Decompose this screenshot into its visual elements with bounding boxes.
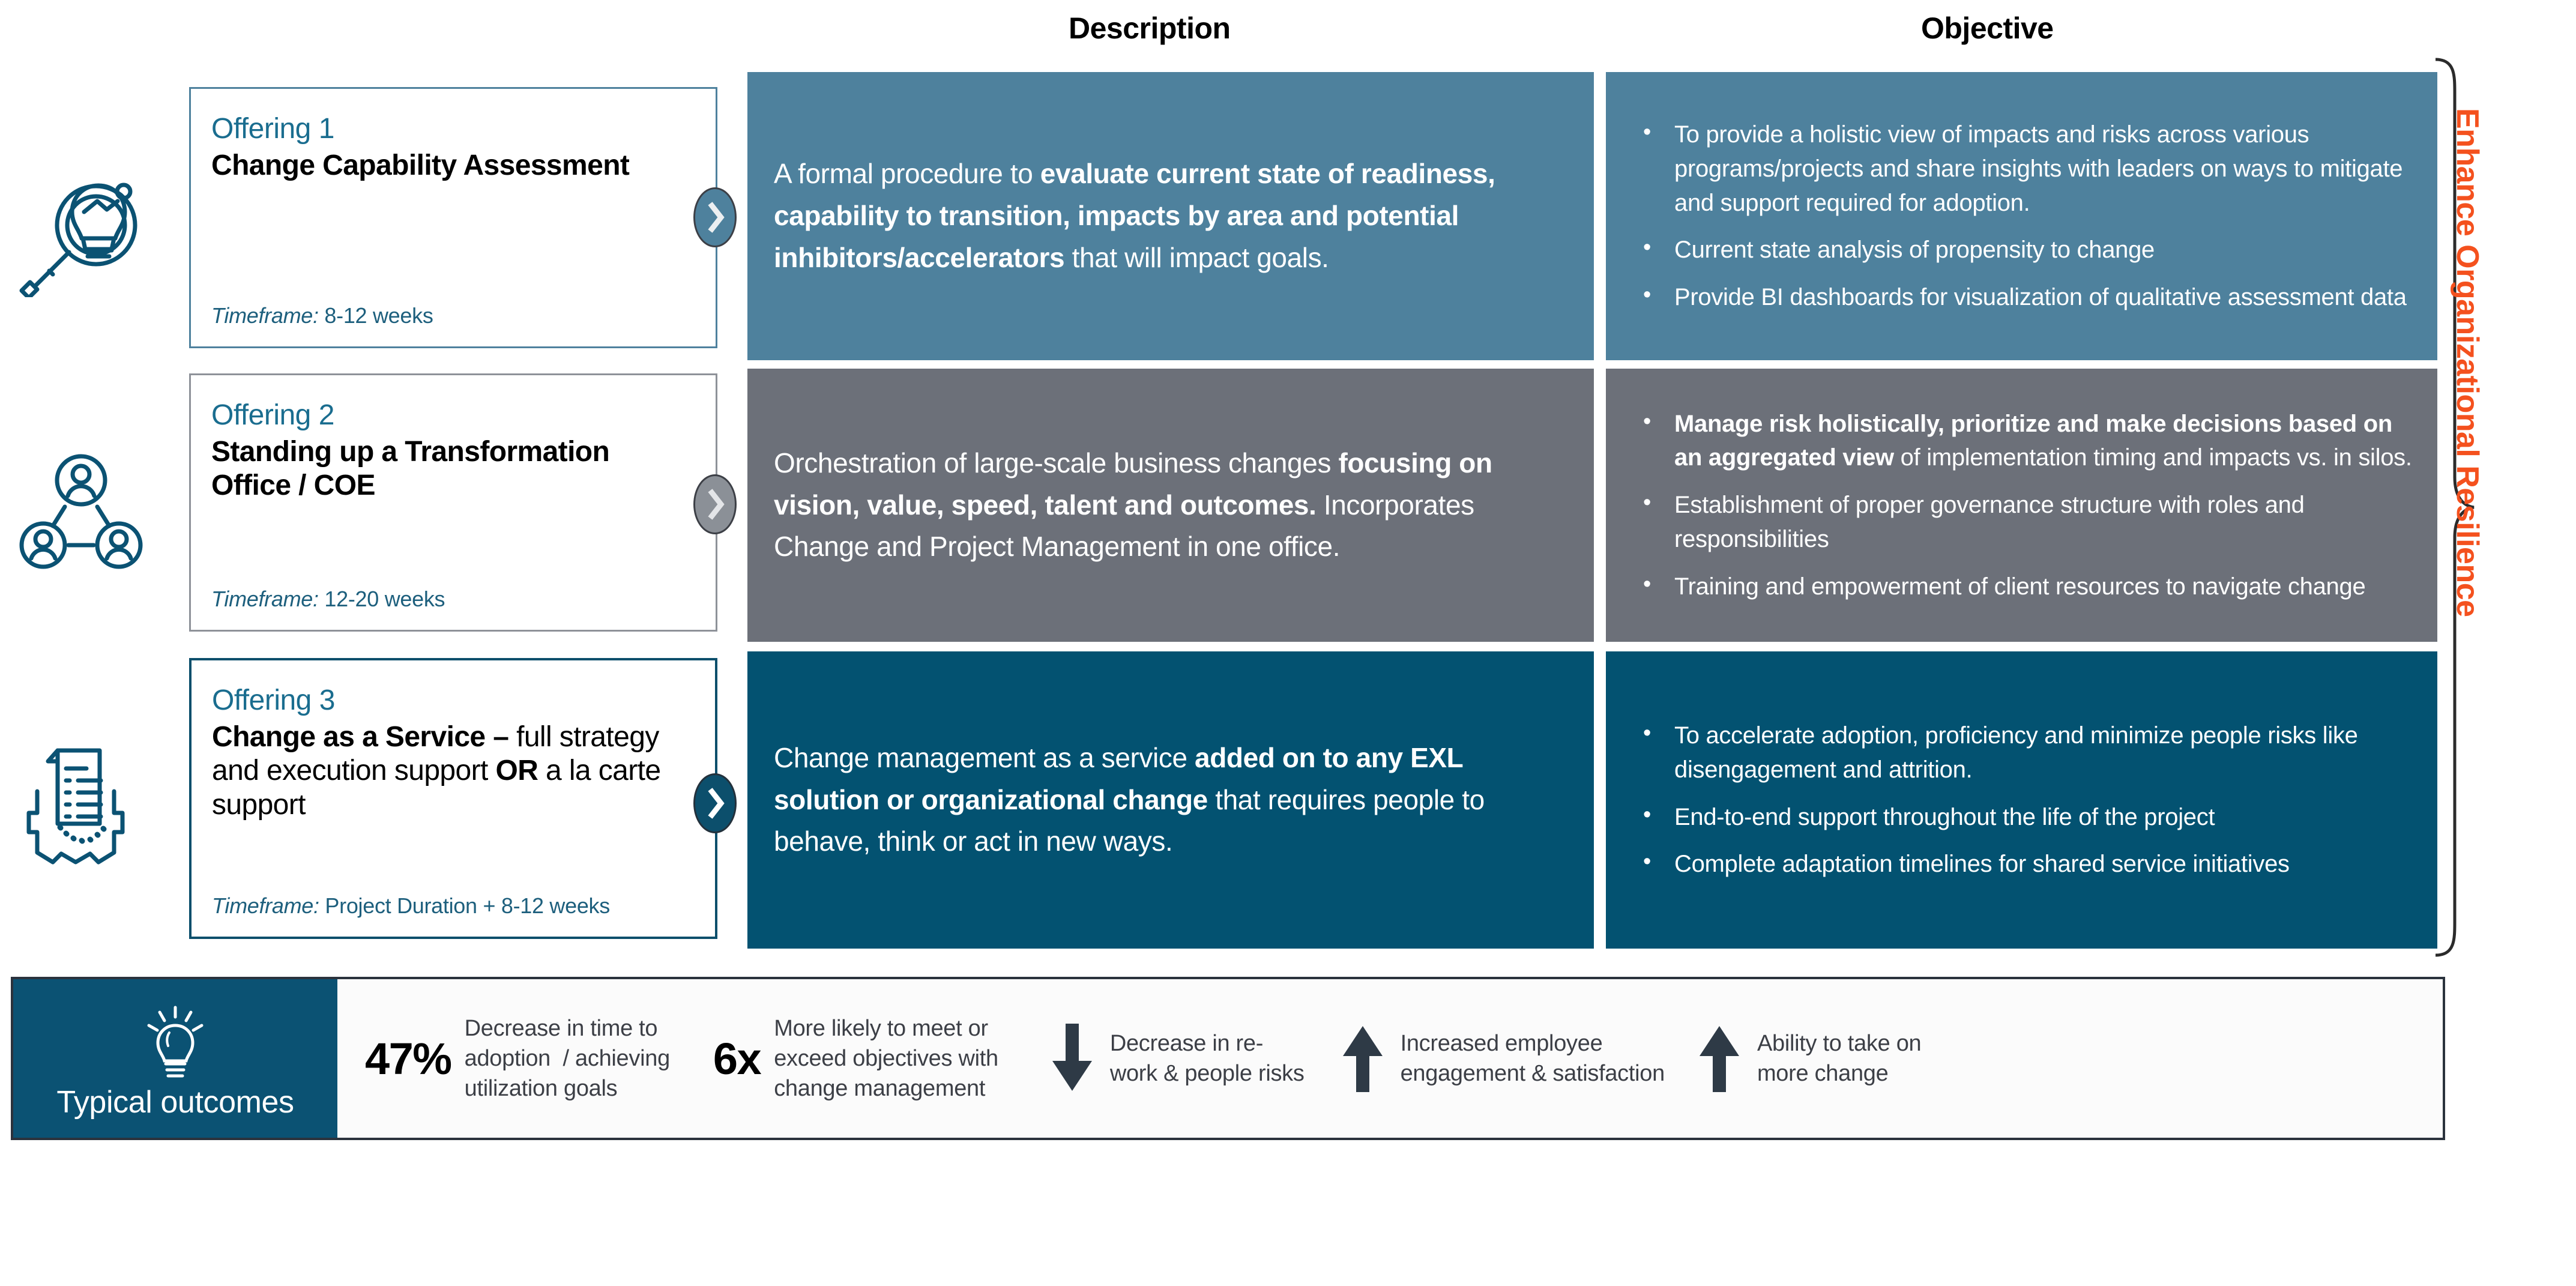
description-text-2: Orchestration of large-scale business ch… [774,442,1567,569]
arrow-up-icon [1697,1024,1742,1093]
objective-panel-1: To provide a holistic view of impacts an… [1606,72,2437,360]
offering-title-2: Standing up a Transformation Office / CO… [211,435,695,503]
arrow-down-icon [1050,1024,1094,1093]
typical-outcomes-title-block: Typical outcomes [13,979,337,1138]
typical-outcomes-title: Typical outcomes [56,1084,294,1120]
arrow-up-icon [1341,1024,1385,1093]
outcome-text: Decrease in time toadoption / achievingu… [465,1013,670,1103]
objective-panel-3: To accelerate adoption, proficiency and … [1606,651,2437,949]
chevron-right-icon-2[interactable] [693,474,737,534]
objective-item: To provide a holistic view of impacts an… [1639,118,2415,220]
typical-outcomes-bar: Typical outcomes 47% Decrease in time to… [11,977,2445,1140]
outcome-stat: 47% [365,1033,451,1084]
outcome-text: More likely to meet orexceed objectives … [774,1013,998,1103]
description-text-1: A formal procedure to evaluate current s… [774,153,1567,279]
offering-card-3[interactable]: Offering 3 Change as a Service – full st… [189,658,717,939]
column-header-description: Description [1069,11,1231,46]
offering-label-2: Offering 2 [211,399,695,432]
objective-item: Provide BI dashboards for visualization … [1639,280,2415,315]
objective-item: Training and empowerment of client resou… [1639,570,2415,604]
objective-item: Establishment of proper governance struc… [1639,488,2415,557]
team-network-icon [12,444,150,582]
objective-item: Current state analysis of propensity to … [1639,233,2415,267]
description-panel-3: Change management as a service added on … [747,651,1594,949]
outcomes-items-list: 47% Decrease in time toadoption / achiev… [337,979,2443,1138]
description-panel-2: Orchestration of large-scale business ch… [747,369,1594,642]
offering-timeframe-1: Timeframe: 8-12 weeks [211,303,695,328]
objective-panel-2: Manage risk holistically, prioritize and… [1606,369,2437,642]
outcome-text: Ability to take onmore change [1757,1028,1921,1088]
offering-title-3: Change as a Service – full strategy and … [212,720,695,823]
offering-label-1: Offering 1 [211,113,695,145]
infographic-root: Description Objective Offering 1 Change … [0,0,2576,1286]
objective-list-3: To accelerate adoption, proficiency and … [1639,719,2415,881]
offering-title-1: Change Capability Assessment [211,149,695,183]
outcome-text: Increased employeeengagement & satisfact… [1401,1028,1665,1088]
description-text-3: Change management as a service added on … [774,737,1567,863]
outcome-item-4: Increased employeeengagement & satisfact… [1341,1024,1665,1093]
objective-list-2: Manage risk holistically, prioritize and… [1639,407,2415,604]
outcome-item-5: Ability to take onmore change [1697,1024,1921,1093]
column-header-objective: Objective [1921,11,2054,46]
document-gear-icon [12,726,150,865]
objective-item: Complete adaptation timelines for shared… [1639,847,2415,881]
offering-card-1[interactable]: Offering 1 Change Capability Assessment … [189,87,717,348]
objective-item: To accelerate adoption, proficiency and … [1639,719,2415,787]
description-panel-1: A formal procedure to evaluate current s… [747,72,1594,360]
offering-card-2[interactable]: Offering 2 Standing up a Transformation … [189,373,717,632]
objective-item: End-to-end support throughout the life o… [1639,800,2415,835]
chevron-right-icon-3[interactable] [693,773,737,833]
offering-label-3: Offering 3 [212,684,695,717]
outcome-item-2: 6x More likely to meet orexceed objectiv… [713,1013,998,1103]
offering-timeframe-3: Timeframe: Project Duration + 8-12 weeks [212,893,695,919]
chevron-right-icon-1[interactable] [693,187,737,247]
side-label-text: Enhance Organizational Resilience [2449,108,2485,913]
offering-timeframe-2: Timeframe: 12-20 weeks [211,587,695,612]
objective-item: Manage risk holistically, prioritize and… [1639,407,2415,475]
objective-list-1: To provide a holistic view of impacts an… [1639,118,2415,315]
magnifier-lightbulb-icon [12,159,150,297]
outcome-text: Decrease in re-work & people risks [1110,1028,1305,1088]
outcome-stat: 6x [713,1033,761,1084]
outcome-item-3: Decrease in re-work & people risks [1050,1024,1305,1093]
outcome-item-1: 47% Decrease in time toadoption / achiev… [365,1013,670,1103]
lightbulb-icon [143,1004,208,1083]
